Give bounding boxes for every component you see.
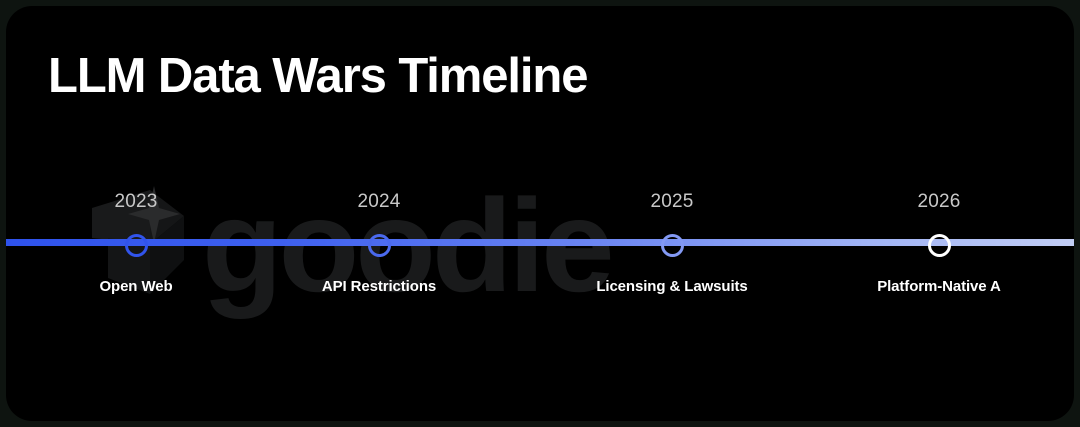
timeline-node-label: Licensing & Lawsuits	[557, 279, 787, 294]
timeline-marker-icon[interactable]	[928, 234, 951, 257]
timeline-year-label: 2026	[824, 192, 1054, 211]
timeline-year-label: 2024	[264, 192, 494, 211]
timeline-node-2025[interactable]: 2025 Licensing & Lawsuits	[557, 192, 787, 294]
slide-card: goodie LLM Data Wars Timeline 2023 Open …	[6, 6, 1074, 421]
timeline-node-label: Open Web	[21, 279, 251, 294]
timeline-year-label: 2025	[557, 192, 787, 211]
timeline-year-label: 2023	[21, 192, 251, 211]
timeline-marker-row	[557, 211, 787, 279]
timeline-node-label: Platform-Native A	[824, 279, 1054, 294]
timeline-marker-icon[interactable]	[661, 234, 684, 257]
timeline-marker-icon[interactable]	[368, 234, 391, 257]
timeline-marker-row	[824, 211, 1054, 279]
timeline-marker-row	[21, 211, 251, 279]
timeline-node-label: API Restrictions	[264, 279, 494, 294]
timeline-chart: 2023 Open Web 2024 API Restrictions 2025…	[6, 6, 1074, 421]
timeline-marker-row	[264, 211, 494, 279]
timeline-node-2026[interactable]: 2026 Platform-Native A	[824, 192, 1054, 294]
timeline-marker-icon[interactable]	[125, 234, 148, 257]
timeline-node-2023[interactable]: 2023 Open Web	[21, 192, 251, 294]
timeline-node-2024[interactable]: 2024 API Restrictions	[264, 192, 494, 294]
